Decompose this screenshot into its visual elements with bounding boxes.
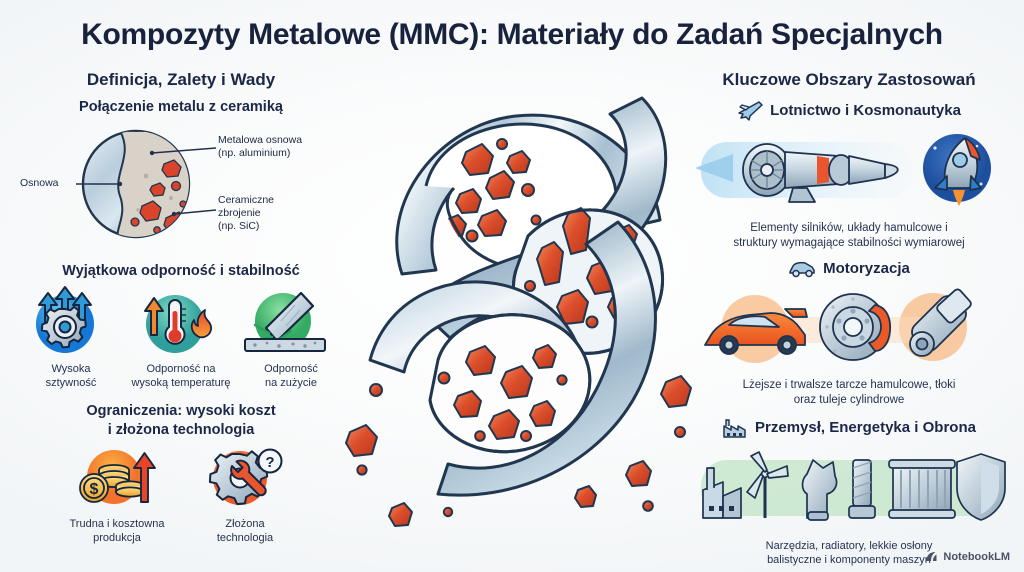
- automotive-caption: Lżejsze i trwalsze tarcze hamulcowe, tło…: [680, 378, 1018, 408]
- limit-caption-cost-l1: Trudna i kosztowna: [68, 517, 166, 531]
- limit-caption-cost: Trudna i kosztowna produkcja: [68, 517, 166, 545]
- application-block-industry: Przemysł, Energetyka i Obrona: [680, 417, 1018, 568]
- benefit-caption-temperature-l1: Odporność na: [129, 362, 233, 376]
- label-ceramic-line3: (np. SiC): [218, 220, 274, 233]
- automotive-head: Motoryzacja: [680, 260, 1018, 278]
- limit-caption-technology-l1: Złożona: [196, 517, 294, 531]
- limit-caption-technology-l2: technologia: [196, 531, 294, 545]
- page-title: Kompozyty Metalowe (MMC): Materiały do Z…: [0, 18, 1024, 52]
- center-illustration: [330, 60, 700, 540]
- automotive-caption-l1: Lżejsze i trwalsze tarcze hamulcowe, tło…: [680, 378, 1018, 393]
- coins-arrow-icon: $: [68, 446, 160, 512]
- application-block-automotive: Motoryzacja: [680, 260, 1018, 408]
- notebooklm-logo-icon: [925, 550, 938, 563]
- industry-artwork: [680, 443, 1018, 535]
- automotive-artwork: [680, 282, 1018, 374]
- benefit-item-temperature: Odporność na wysoką temperaturę: [129, 287, 233, 390]
- label-metal-matrix-line1: Metalowa osnowa: [218, 134, 302, 147]
- automotive-caption-l2: oraz tuleje cylindrowe: [680, 393, 1018, 408]
- infographic-poster: Kompozyty Metalowe (MMC): Materiały do Z…: [0, 0, 1024, 572]
- left-column: Definicja, Zalety i Wady Połączenie meta…: [16, 70, 346, 545]
- industry-head: Przemysł, Energetyka i Obrona: [680, 417, 1018, 439]
- industry-art-svg: [689, 446, 1009, 532]
- benefits-subheading: Wyjątkowa odporność i stabilność: [16, 262, 346, 280]
- right-column-heading: Kluczowe Obszary Zastosowań: [680, 70, 1018, 90]
- application-block-aerospace: Lotnictwo i Kosmonautyka: [680, 99, 1018, 251]
- aerospace-head: Lotnictwo i Kosmonautyka: [680, 99, 1018, 121]
- left-column-heading: Definicja, Zalety i Wady: [16, 70, 346, 90]
- airplane-icon: [737, 99, 763, 121]
- label-metal-matrix: Metalowa osnowa (np. aluminium): [218, 134, 302, 160]
- label-ceramic-line2: zbrojenie: [218, 207, 274, 220]
- label-osnowa: Osnowa: [20, 177, 59, 190]
- watermark-label: NotebookLM: [943, 551, 1010, 563]
- aerospace-caption-l2: struktury wymagające stabilności wymiaro…: [680, 236, 1018, 251]
- industry-title: Przemysł, Energetyka i Obrona: [755, 419, 976, 436]
- limits-icon-row: $ Trudna i kosztowna produkcja: [16, 446, 346, 545]
- abrasion-blade-icon: [239, 287, 331, 357]
- benefit-caption-stiffness-l1: Wysoka: [19, 362, 123, 376]
- benefit-caption-wear-l1: Odporność: [239, 362, 343, 376]
- factory-icon: [722, 417, 748, 439]
- benefit-item-stiffness: Wysoka sztywność: [19, 287, 123, 390]
- thermometer-flame-icon: [129, 287, 221, 357]
- limits-subheading: Ograniczenia: wysoki koszt i złożona tec…: [16, 402, 346, 438]
- benefit-caption-wear: Odporność na zużycie: [239, 362, 343, 390]
- aerospace-caption-l1: Elementy silników, układy hamulcowe i: [680, 221, 1018, 236]
- aerospace-title: Lotnictwo i Kosmonautyka: [770, 102, 961, 119]
- mmc-helix-svg: [330, 60, 700, 540]
- label-ceramic-line1: Ceramiczne: [218, 194, 274, 207]
- benefit-caption-temperature: Odporność na wysoką temperaturę: [129, 362, 233, 390]
- label-metal-matrix-line2: (np. aluminium): [218, 147, 302, 160]
- aerospace-art-svg: [689, 126, 1009, 216]
- car-icon: [788, 260, 816, 278]
- aerospace-artwork: [680, 125, 1018, 217]
- dollar-sign-glyph: $: [90, 481, 99, 498]
- right-column: Kluczowe Obszary Zastosowań Lotnictwo i …: [680, 70, 1018, 567]
- benefit-item-wear: Odporność na zużycie: [239, 287, 343, 390]
- limits-subheading-l2: i złożona technologia: [16, 421, 346, 439]
- benefit-caption-temperature-l2: wysoką temperaturę: [129, 376, 233, 390]
- gear-wrench-question-icon: ?: [196, 446, 288, 512]
- gear-arrows-icon: [19, 287, 111, 357]
- limit-caption-cost-l2: produkcja: [68, 531, 166, 545]
- watermark: NotebookLM: [925, 550, 1010, 563]
- benefit-caption-wear-l2: na zużycie: [239, 376, 343, 390]
- automotive-art-svg: [689, 283, 1009, 373]
- automotive-title: Motoryzacja: [823, 260, 910, 277]
- limit-item-cost: $ Trudna i kosztowna produkcja: [68, 446, 166, 545]
- benefit-caption-stiffness-l2: sztywność: [19, 376, 123, 390]
- aerospace-caption: Elementy silników, układy hamulcowe i st…: [680, 221, 1018, 251]
- label-ceramic-reinforcement: Ceramiczne zbrojenie (np. SiC): [218, 194, 274, 233]
- benefit-caption-stiffness: Wysoka sztywność: [19, 362, 123, 390]
- limits-subheading-l1: Ograniczenia: wysoki koszt: [16, 402, 346, 420]
- limit-caption-technology: Złożona technologia: [196, 517, 294, 545]
- question-mark-glyph: ?: [265, 454, 274, 471]
- microstructure-subheading: Połączenie metalu z ceramiką: [16, 98, 346, 116]
- benefits-icon-row: Wysoka sztywność: [16, 287, 346, 390]
- microstructure-diagram: Osnowa Metalowa osnowa (np. aluminium) C…: [16, 122, 346, 252]
- limit-item-technology: ? Złożona technologia: [196, 446, 294, 545]
